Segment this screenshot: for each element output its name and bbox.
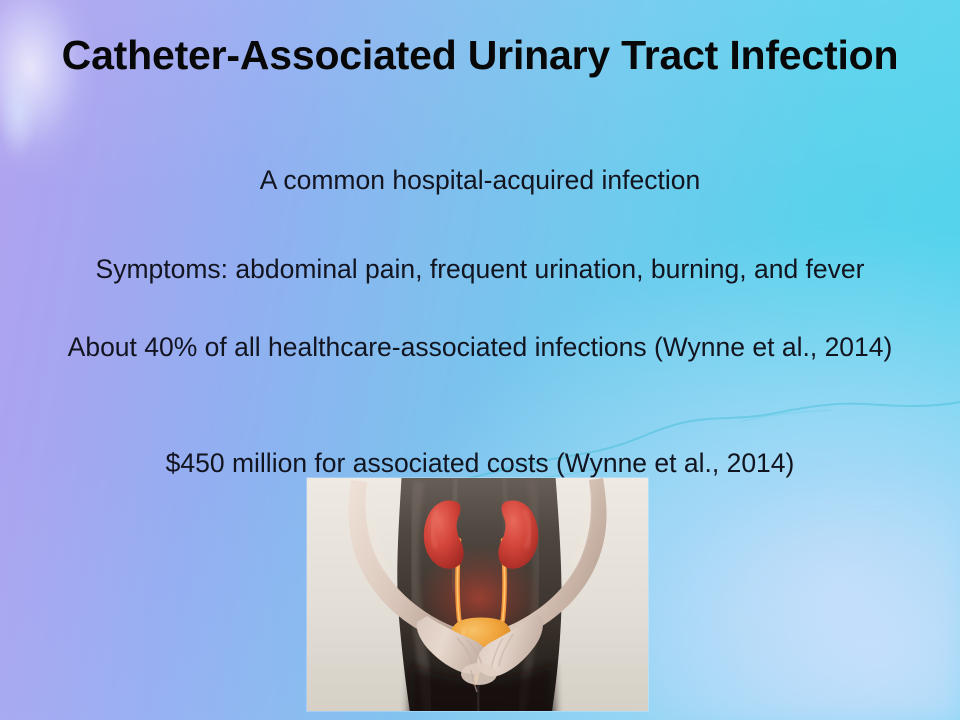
bullet-infection-share: About 40% of all healthcare-associated i… [20, 328, 940, 366]
slide-title: Catheter-Associated Urinary Tract Infect… [40, 28, 920, 83]
presentation-slide: Catheter-Associated Urinary Tract Infect… [0, 0, 960, 720]
slide-subtitle: A common hospital-acquired infection [40, 163, 920, 197]
urinary-tract-anatomy-photo [307, 478, 648, 711]
urinary-tract-anatomy-illustration [307, 478, 648, 711]
bullet-symptoms: Symptoms: abdominal pain, frequent urina… [20, 250, 940, 288]
bullet-associated-costs: $450 million for associated costs (Wynne… [20, 444, 940, 482]
